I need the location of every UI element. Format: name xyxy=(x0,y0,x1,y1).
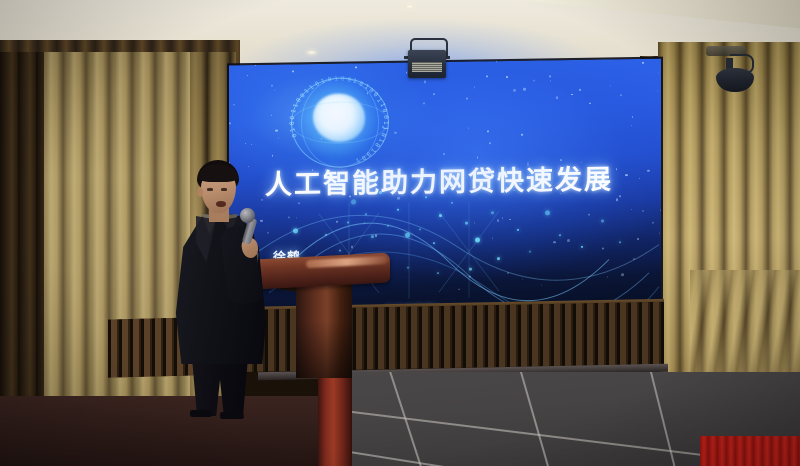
microphone-head-icon xyxy=(240,208,255,223)
red-pillar xyxy=(318,372,352,466)
curtain-right-fold xyxy=(690,270,800,382)
stage-red-skirt xyxy=(700,436,800,466)
slide-title: 人工智能助力网贷快速发展 xyxy=(265,157,645,202)
recessed-downlight-icon xyxy=(404,4,415,9)
presenter xyxy=(166,160,284,412)
curtain-left-dark-edge xyxy=(0,52,44,402)
spotlight-fixture xyxy=(712,52,758,94)
recessed-downlight-icon xyxy=(306,50,317,55)
conference-stage-photo: 0100110011010100101001100110101001 人工智能助… xyxy=(0,0,800,466)
stage-light-fixture xyxy=(404,36,450,80)
